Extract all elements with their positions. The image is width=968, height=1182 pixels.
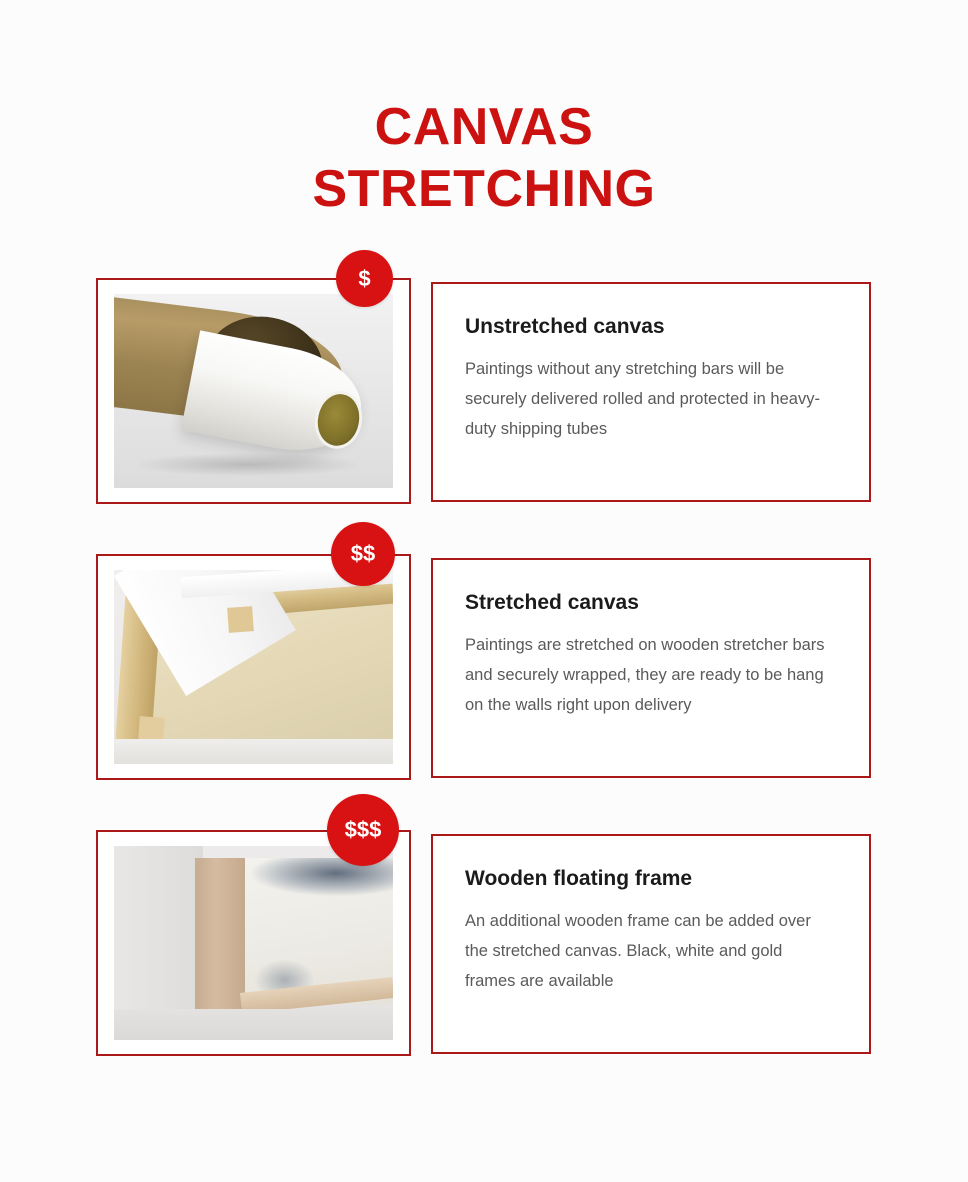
stretcher-bars-canvas-back-photo: [114, 570, 393, 764]
option-row: $$ Stretched canvas Paintings are stretc…: [0, 554, 968, 780]
canvas-stretching-infographic: CANVAS STRETCHING $ Unstretched canvas P…: [0, 0, 968, 1182]
text-card: Stretched canvas Paintings are stretched…: [431, 558, 871, 778]
text-card: Wooden floating frame An additional wood…: [431, 834, 871, 1054]
card-body-text: Paintings are stretched on wooden stretc…: [465, 630, 835, 720]
option-row: $$$ Wooden floating frame An additional …: [0, 830, 968, 1056]
option-row: $ Unstretched canvas Paintings without a…: [0, 278, 968, 504]
photo-shadow: [136, 453, 359, 476]
photo-surface-strip: [114, 739, 393, 764]
card-heading: Wooden floating frame: [465, 866, 835, 892]
card-body-text: Paintings without any stretching bars wi…: [465, 354, 835, 444]
wooden-floating-frame-corner-photo: [114, 846, 393, 1040]
card-body-text: An additional wooden frame can be added …: [465, 906, 835, 996]
title-line-2: STRETCHING: [0, 158, 968, 220]
option-rows: $ Unstretched canvas Paintings without a…: [0, 278, 968, 1106]
card-heading: Stretched canvas: [465, 590, 835, 616]
page-title: CANVAS STRETCHING: [0, 96, 968, 220]
price-badge: $$$: [327, 794, 399, 866]
price-badge: $: [336, 250, 393, 307]
text-card: Unstretched canvas Paintings without any…: [431, 282, 871, 502]
price-badge: $$: [331, 522, 395, 586]
card-heading: Unstretched canvas: [465, 314, 835, 340]
shipping-tube-with-rolled-canvas-photo: [114, 294, 393, 488]
photo-floor-strip: [114, 1009, 393, 1040]
image-card: [96, 554, 411, 780]
corner-wedge: [228, 606, 255, 633]
image-card: [96, 278, 411, 504]
title-line-1: CANVAS: [0, 96, 968, 158]
